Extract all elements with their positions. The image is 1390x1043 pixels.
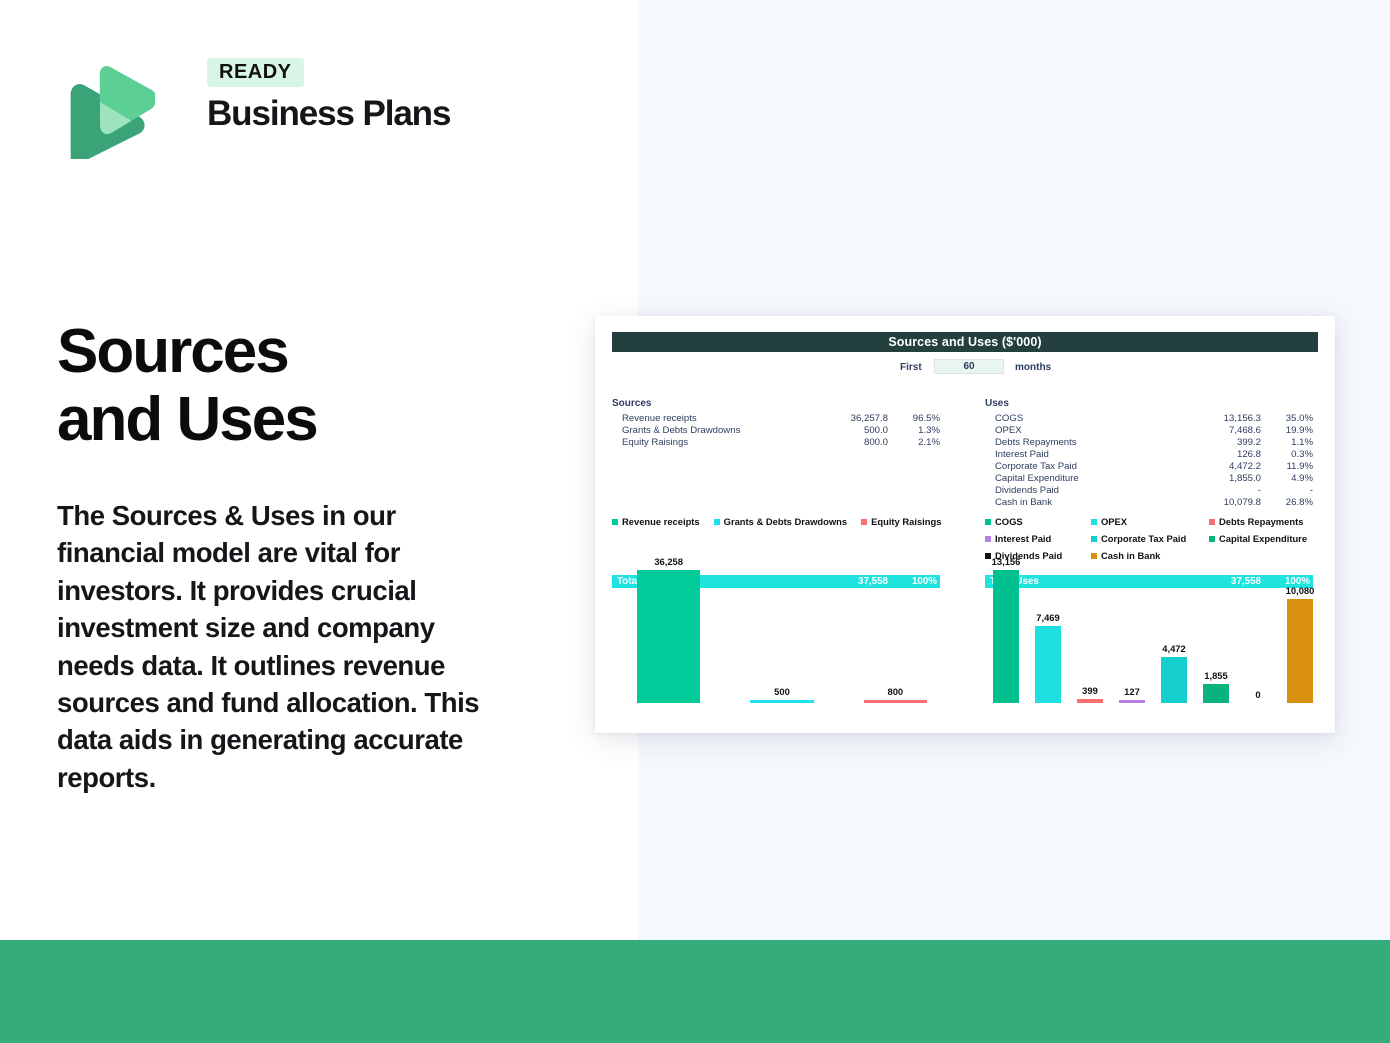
legend-swatch-icon (861, 519, 867, 525)
uses-bar-chart: 13,1567,4693991274,4721,855010,080 (985, 556, 1321, 716)
bar-group: 36,258 (612, 556, 725, 703)
use-row-label: Capital Expenditure (985, 473, 1183, 484)
table-row: COGS13,156.335.0% (985, 412, 1313, 424)
use-row-value: 1,855.0 (1183, 473, 1261, 484)
bar-group: 399 (1069, 556, 1111, 703)
legend-label: OPEX (1101, 516, 1127, 527)
legend-item[interactable]: Capital Expenditure (1209, 533, 1321, 544)
sources-table: Sources Revenue receipts36,257.896.5%Gra… (612, 398, 940, 448)
legend-label: COGS (995, 516, 1023, 527)
sources-chart-legend: Revenue receiptsGrants & Debts Drawdowns… (612, 516, 952, 527)
bar-group: 500 (725, 556, 838, 703)
use-row-value: - (1183, 485, 1261, 496)
bar-value-label: 127 (1124, 686, 1140, 697)
uses-table: Uses COGS13,156.335.0%OPEX7,468.619.9%De… (985, 398, 1313, 508)
bar[interactable] (1287, 599, 1313, 703)
legend-swatch-icon (1209, 519, 1215, 525)
legend-swatch-icon (1091, 536, 1097, 542)
table-row: Capital Expenditure1,855.04.9% (985, 472, 1313, 484)
table-row: Dividends Paid-- (985, 484, 1313, 496)
source-row-value: 800.0 (810, 437, 888, 448)
use-row-value: 7,468.6 (1183, 425, 1261, 436)
source-row-value: 36,257.8 (810, 413, 888, 424)
table-row: Equity Raisings800.02.1% (612, 436, 940, 448)
use-row-pct: 19.9% (1261, 425, 1313, 436)
bar-group: 7,469 (1027, 556, 1069, 703)
bar-group: 127 (1111, 556, 1153, 703)
use-row-value: 10,079.8 (1183, 497, 1261, 508)
bar[interactable] (1203, 684, 1229, 703)
legend-label: Corporate Tax Paid (1101, 533, 1186, 544)
use-row-pct: 4.9% (1261, 473, 1313, 484)
legend-swatch-icon (1091, 519, 1097, 525)
sources-and-uses-card: Sources and Uses ($'000) First 60 months… (595, 316, 1335, 733)
use-row-label: Corporate Tax Paid (985, 461, 1183, 472)
legend-swatch-icon (1209, 536, 1215, 542)
use-row-value: 126.8 (1183, 449, 1261, 460)
bar[interactable] (993, 570, 1019, 703)
legend-item[interactable]: Interest Paid (985, 533, 1091, 544)
bar[interactable] (1077, 699, 1103, 703)
legend-item[interactable]: Equity Raisings (861, 516, 941, 527)
source-row-label: Revenue receipts (612, 413, 810, 424)
sources-rows: Revenue receipts36,257.896.5%Grants & De… (612, 412, 940, 448)
bar-value-label: 36,258 (654, 556, 683, 567)
bar[interactable] (1035, 626, 1061, 703)
legend-swatch-icon (714, 519, 720, 525)
bar-value-label: 500 (774, 686, 790, 697)
sources-plot-area: 36,258500800 (612, 556, 952, 703)
ready-badge: READY (207, 58, 304, 87)
legend-item[interactable]: Debts Repayments (1209, 516, 1321, 527)
use-row-value: 4,472.2 (1183, 461, 1261, 472)
use-row-label: COGS (985, 413, 1183, 424)
uses-header: Uses (985, 398, 1313, 409)
table-row: Grants & Debts Drawdowns500.01.3% (612, 424, 940, 436)
bar-value-label: 1,855 (1204, 670, 1227, 681)
period-months-input[interactable]: 60 (934, 359, 1004, 374)
use-row-label: Interest Paid (985, 449, 1183, 460)
use-row-value: 13,156.3 (1183, 413, 1261, 424)
legend-swatch-icon (985, 519, 991, 525)
source-row-pct: 96.5% (888, 413, 940, 424)
table-row: Corporate Tax Paid4,472.211.9% (985, 460, 1313, 472)
bar[interactable] (1161, 657, 1187, 703)
use-row-label: Dividends Paid (985, 485, 1183, 496)
card-title: Sources and Uses ($'000) (612, 332, 1318, 352)
brand-wordmark: READY Business Plans (207, 58, 507, 133)
source-row-pct: 2.1% (888, 437, 940, 448)
use-row-label: Cash in Bank (985, 497, 1183, 508)
bar[interactable] (750, 700, 813, 703)
source-row-value: 500.0 (810, 425, 888, 436)
legend-item[interactable]: OPEX (1091, 516, 1209, 527)
bar-group: 10,080 (1279, 556, 1321, 703)
table-row: Revenue receipts36,257.896.5% (612, 412, 940, 424)
uses-chart-legend: COGSOPEXDebts RepaymentsInterest PaidCor… (985, 516, 1321, 561)
use-row-pct: 0.3% (1261, 449, 1313, 460)
play-logo-icon (57, 60, 155, 160)
legend-label: Capital Expenditure (1219, 533, 1307, 544)
brand-logo: READY Business Plans (57, 58, 477, 162)
bar-group: 0 (1237, 556, 1279, 703)
period-unit-label: months (1015, 362, 1051, 373)
use-row-label: Debts Repayments (985, 437, 1183, 448)
sources-bar-chart: 36,258500800 (612, 556, 952, 716)
bar[interactable] (864, 700, 927, 703)
source-row-label: Equity Raisings (612, 437, 810, 448)
use-row-label: OPEX (985, 425, 1183, 436)
bar-value-label: 4,472 (1162, 643, 1185, 654)
source-row-label: Grants & Debts Drawdowns (612, 425, 810, 436)
source-row-pct: 1.3% (888, 425, 940, 436)
legend-label: Debts Repayments (1219, 516, 1303, 527)
bar[interactable] (1119, 700, 1145, 703)
uses-rows: COGS13,156.335.0%OPEX7,468.619.9%Debts R… (985, 412, 1313, 508)
footer-bar (0, 940, 1390, 1043)
bar-group: 13,156 (985, 556, 1027, 703)
legend-label: Interest Paid (995, 533, 1051, 544)
legend-item[interactable]: COGS (985, 516, 1091, 527)
bar-value-label: 13,156 (992, 556, 1021, 567)
table-row: Debts Repayments399.21.1% (985, 436, 1313, 448)
legend-item[interactable]: Grants & Debts Drawdowns (714, 516, 847, 527)
table-row: Cash in Bank10,079.826.8% (985, 496, 1313, 508)
bar-value-label: 10,080 (1286, 585, 1315, 596)
legend-item[interactable]: Corporate Tax Paid (1091, 533, 1209, 544)
brand-name: Business Plans (207, 96, 507, 133)
bar-group: 4,472 (1153, 556, 1195, 703)
legend-label: Revenue receipts (622, 516, 700, 527)
bar-group: 1,855 (1195, 556, 1237, 703)
use-row-pct: 35.0% (1261, 413, 1313, 424)
page-title: Sourcesand Uses (57, 318, 597, 454)
legend-item[interactable]: Revenue receipts (612, 516, 700, 527)
table-row: Interest Paid126.80.3% (985, 448, 1313, 460)
sources-header: Sources (612, 398, 940, 409)
bar-value-label: 800 (887, 686, 903, 697)
use-row-value: 399.2 (1183, 437, 1261, 448)
period-selector-row: First 60 months (612, 359, 1318, 375)
legend-swatch-icon (612, 519, 618, 525)
bar-value-label: 7,469 (1036, 612, 1059, 623)
use-row-pct: 11.9% (1261, 461, 1313, 472)
bar-group: 800 (839, 556, 952, 703)
use-row-pct: - (1261, 485, 1313, 496)
uses-plot-area: 13,1567,4693991274,4721,855010,080 (985, 556, 1321, 703)
table-row: OPEX7,468.619.9% (985, 424, 1313, 436)
use-row-pct: 26.8% (1261, 497, 1313, 508)
legend-label: Equity Raisings (871, 516, 941, 527)
legend-label: Grants & Debts Drawdowns (724, 516, 847, 527)
bar-value-label: 399 (1082, 685, 1098, 696)
legend-swatch-icon (985, 536, 991, 542)
use-row-pct: 1.1% (1261, 437, 1313, 448)
bar-value-label: 0 (1255, 689, 1260, 700)
page-description: The Sources & Uses in our financial mode… (57, 497, 507, 796)
period-prefix-label: First (900, 362, 922, 373)
bar[interactable] (637, 570, 700, 703)
